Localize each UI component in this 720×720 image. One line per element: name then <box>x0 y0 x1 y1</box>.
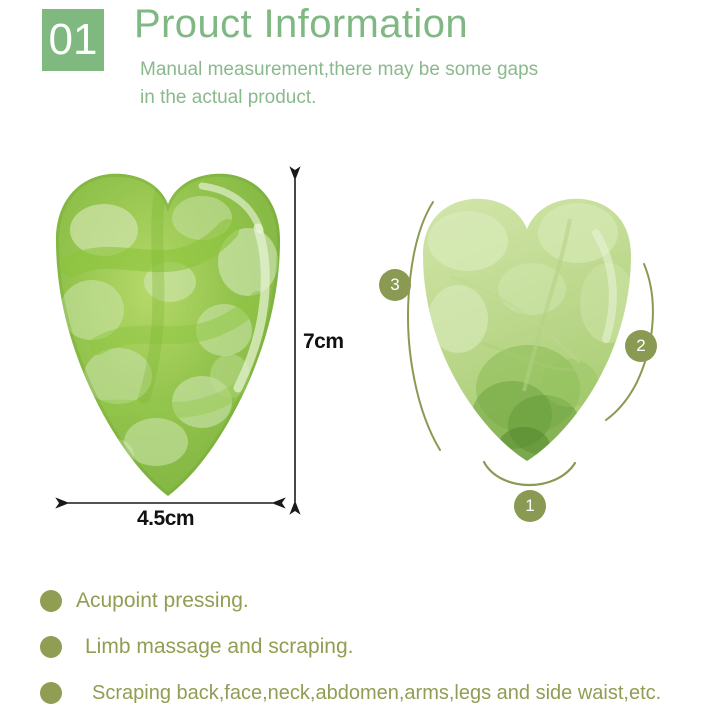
page-title: Prouct Information <box>134 2 468 47</box>
callout-arc-1 <box>484 462 575 485</box>
list-item: Acupoint pressing. <box>0 578 720 624</box>
step-number-label: 01 <box>49 18 98 62</box>
right-gua-sha-stone-image <box>420 193 634 465</box>
height-dimension-label: 7cm <box>303 330 344 354</box>
callout-badge-1-label: 1 <box>525 496 534 516</box>
callout-badge-3-label: 3 <box>390 275 399 295</box>
bullet-dot-icon <box>40 590 62 612</box>
page-subtitle: Manual measurement,there may be some gap… <box>140 56 660 112</box>
feature-label: Scraping back,face,neck,abdomen,arms,leg… <box>92 682 661 705</box>
list-item: Limb massage and scraping. <box>0 624 720 670</box>
width-dimension-label: 4.5cm <box>137 507 194 531</box>
callout-badge-2: 2 <box>625 330 657 362</box>
bullet-dot-icon <box>40 636 62 658</box>
callout-badge-1: 1 <box>514 490 546 522</box>
bullet-dot-icon <box>40 682 62 704</box>
product-information-page: 01 Prouct Information Manual measurement… <box>0 0 720 720</box>
subtitle-line-2: in the actual product. <box>140 84 660 112</box>
feature-label: Acupoint pressing. <box>76 589 249 613</box>
left-gua-sha-stone-image <box>52 170 284 500</box>
callout-badge-2-label: 2 <box>636 336 645 356</box>
feature-label: Limb massage and scraping. <box>85 635 353 659</box>
step-number-badge: 01 <box>42 9 104 71</box>
feature-list: Acupoint pressing. Limb massage and scra… <box>0 578 720 716</box>
list-item: Scraping back,face,neck,abdomen,arms,leg… <box>0 670 720 716</box>
callout-badge-3: 3 <box>379 269 411 301</box>
subtitle-line-1: Manual measurement,there may be some gap… <box>140 56 660 84</box>
